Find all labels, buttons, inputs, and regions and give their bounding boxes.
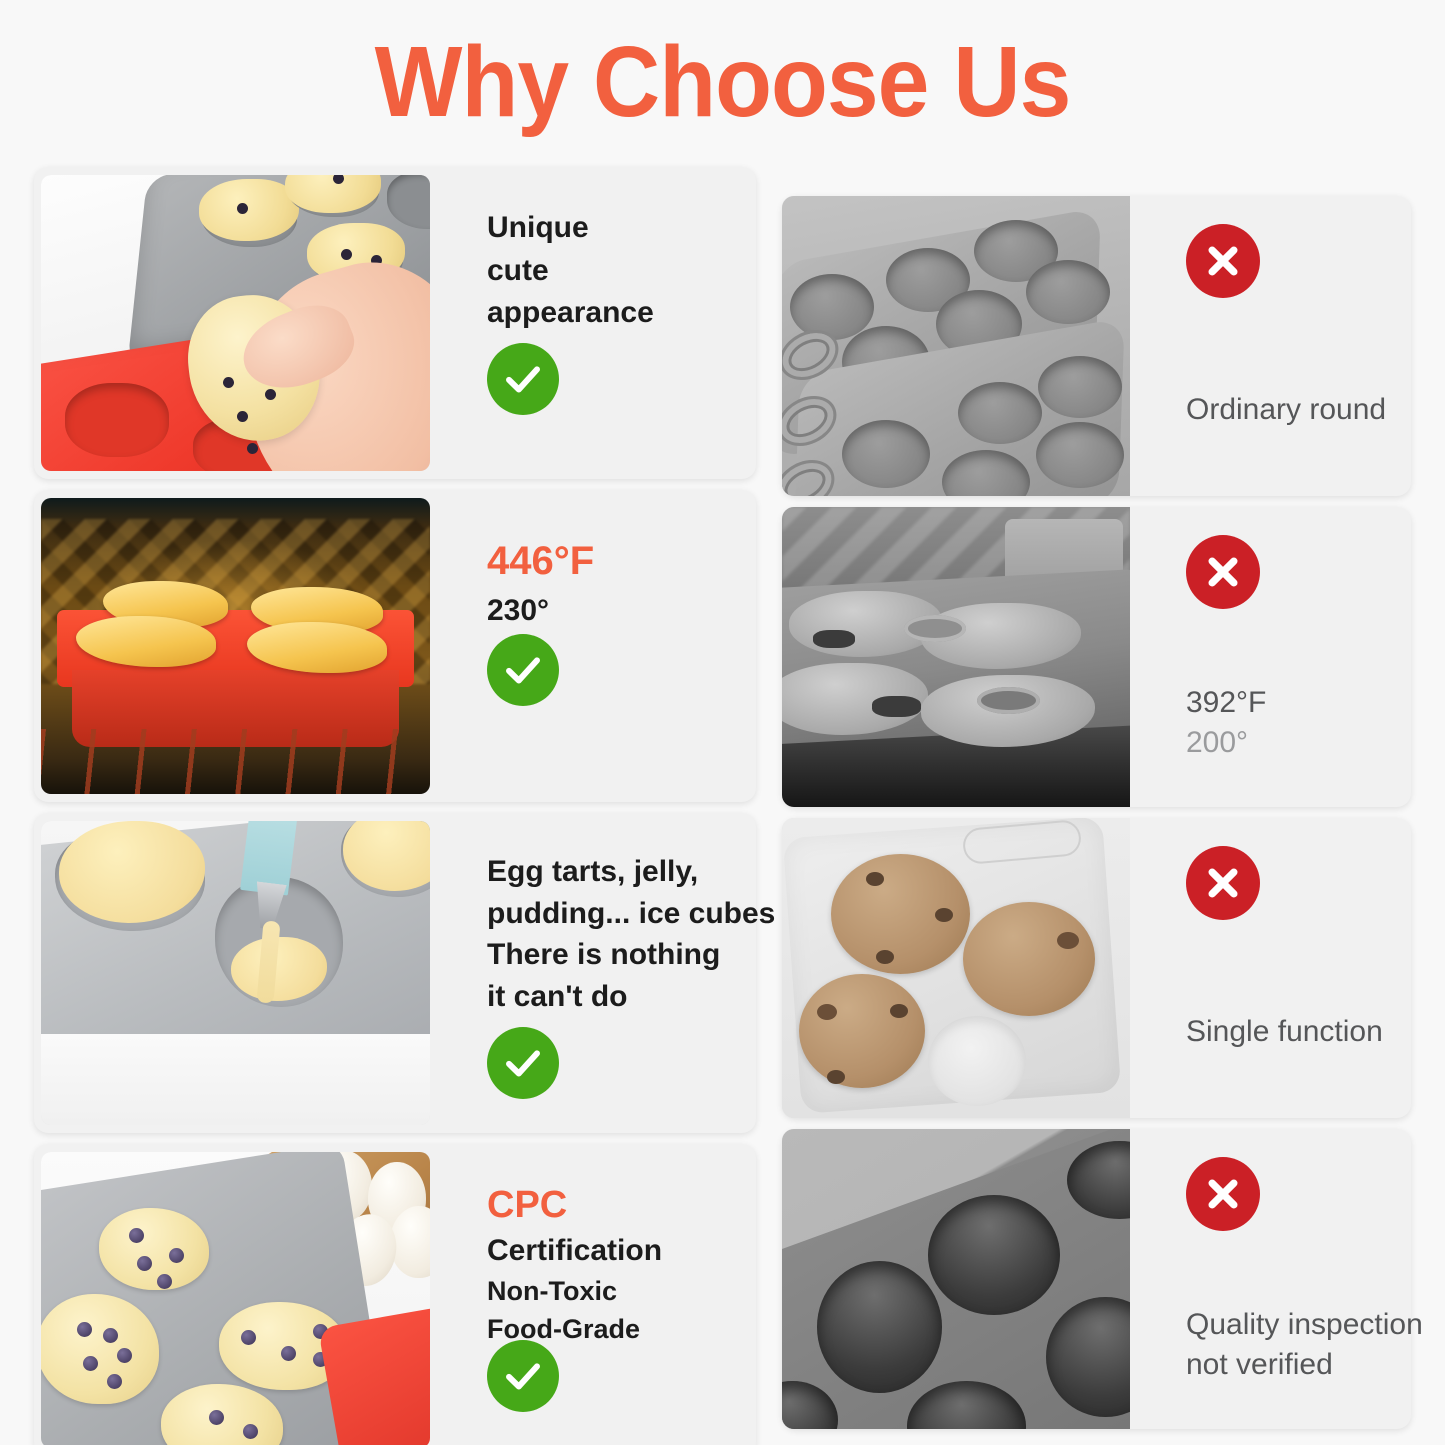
- pro-text-heat-resistance: 446°F 230°: [430, 490, 756, 802]
- con-line: Ordinary round: [1186, 390, 1386, 430]
- pro-line: Non-Toxic: [487, 1272, 756, 1310]
- photo-heat-resistance: [41, 498, 430, 794]
- con-line: 200°: [1186, 723, 1266, 763]
- pro-text-multi-use: Egg tarts, jelly, pudding... ice cubes T…: [430, 813, 775, 1133]
- pro-card-unique-appearance: Unique cute appearance: [34, 167, 756, 479]
- check-icon: [487, 1340, 559, 1412]
- con-label-group: 392°F 200°: [1186, 683, 1266, 763]
- check-icon: [487, 1027, 559, 1099]
- pro-line: There is nothing: [487, 934, 775, 976]
- cons-column: Ordinary round: [782, 196, 1411, 1440]
- con-label-group: Quality inspection not verified: [1186, 1305, 1423, 1385]
- pro-card-multi-use: Egg tarts, jelly, pudding... ice cubes T…: [34, 813, 756, 1133]
- pro-line: Certification: [487, 1230, 756, 1273]
- con-text-single-function: Single function: [1130, 818, 1411, 1118]
- pro-card-cpc-certification: CPC Certification Non-Toxic Food-Grade: [34, 1144, 756, 1445]
- check-icon: [487, 343, 559, 415]
- photo-multi-use: [41, 821, 430, 1125]
- photo-unique-appearance: [41, 175, 430, 471]
- con-label-group: Ordinary round: [1186, 390, 1386, 430]
- con-card-single-function: Single function: [782, 818, 1411, 1118]
- pro-card-heat-resistance: 446°F 230°: [34, 490, 756, 802]
- con-card-ordinary-round: Ordinary round: [782, 196, 1411, 496]
- pro-accent-line: CPC: [487, 1182, 756, 1230]
- comparison-infographic: Why Choose Us: [0, 0, 1445, 1445]
- pro-line: appearance: [487, 292, 756, 335]
- pro-line: Egg tarts, jelly,: [487, 851, 775, 893]
- con-text-unverified-quality: Quality inspection not verified: [1130, 1129, 1411, 1429]
- pro-line: 230°: [487, 590, 756, 633]
- photo-unverified-quality: [782, 1129, 1130, 1429]
- pro-text-cpc-certification: CPC Certification Non-Toxic Food-Grade: [430, 1144, 756, 1445]
- con-line: Single function: [1186, 1012, 1383, 1052]
- con-line: Quality inspection: [1186, 1305, 1423, 1345]
- pro-line: it can't do: [487, 976, 775, 1018]
- con-line: 392°F: [1186, 683, 1266, 723]
- con-line: not verified: [1186, 1345, 1423, 1385]
- photo-cpc-certification: [41, 1152, 430, 1445]
- photo-ordinary-round: [782, 196, 1130, 496]
- page-title: Why Choose Us: [51, 26, 1395, 138]
- pro-text-unique-appearance: Unique cute appearance: [430, 167, 756, 479]
- pro-line: pudding... ice cubes: [487, 893, 775, 935]
- cross-icon: [1186, 224, 1260, 298]
- pro-accent-line: 446°F: [487, 536, 756, 586]
- con-text-lower-heat: 392°F 200°: [1130, 507, 1411, 807]
- pro-line: Unique: [487, 207, 756, 250]
- cross-icon: [1186, 1157, 1260, 1231]
- con-text-ordinary-round: Ordinary round: [1130, 196, 1411, 496]
- photo-single-function: [782, 818, 1130, 1118]
- con-card-unverified-quality: Quality inspection not verified: [782, 1129, 1411, 1429]
- check-icon: [487, 634, 559, 706]
- photo-lower-heat: [782, 507, 1130, 807]
- cross-icon: [1186, 535, 1260, 609]
- con-card-lower-heat: 392°F 200°: [782, 507, 1411, 807]
- con-label-group: Single function: [1186, 1012, 1383, 1052]
- pro-line: cute: [487, 250, 756, 293]
- cross-icon: [1186, 846, 1260, 920]
- pros-column: Unique cute appearance: [34, 167, 756, 1445]
